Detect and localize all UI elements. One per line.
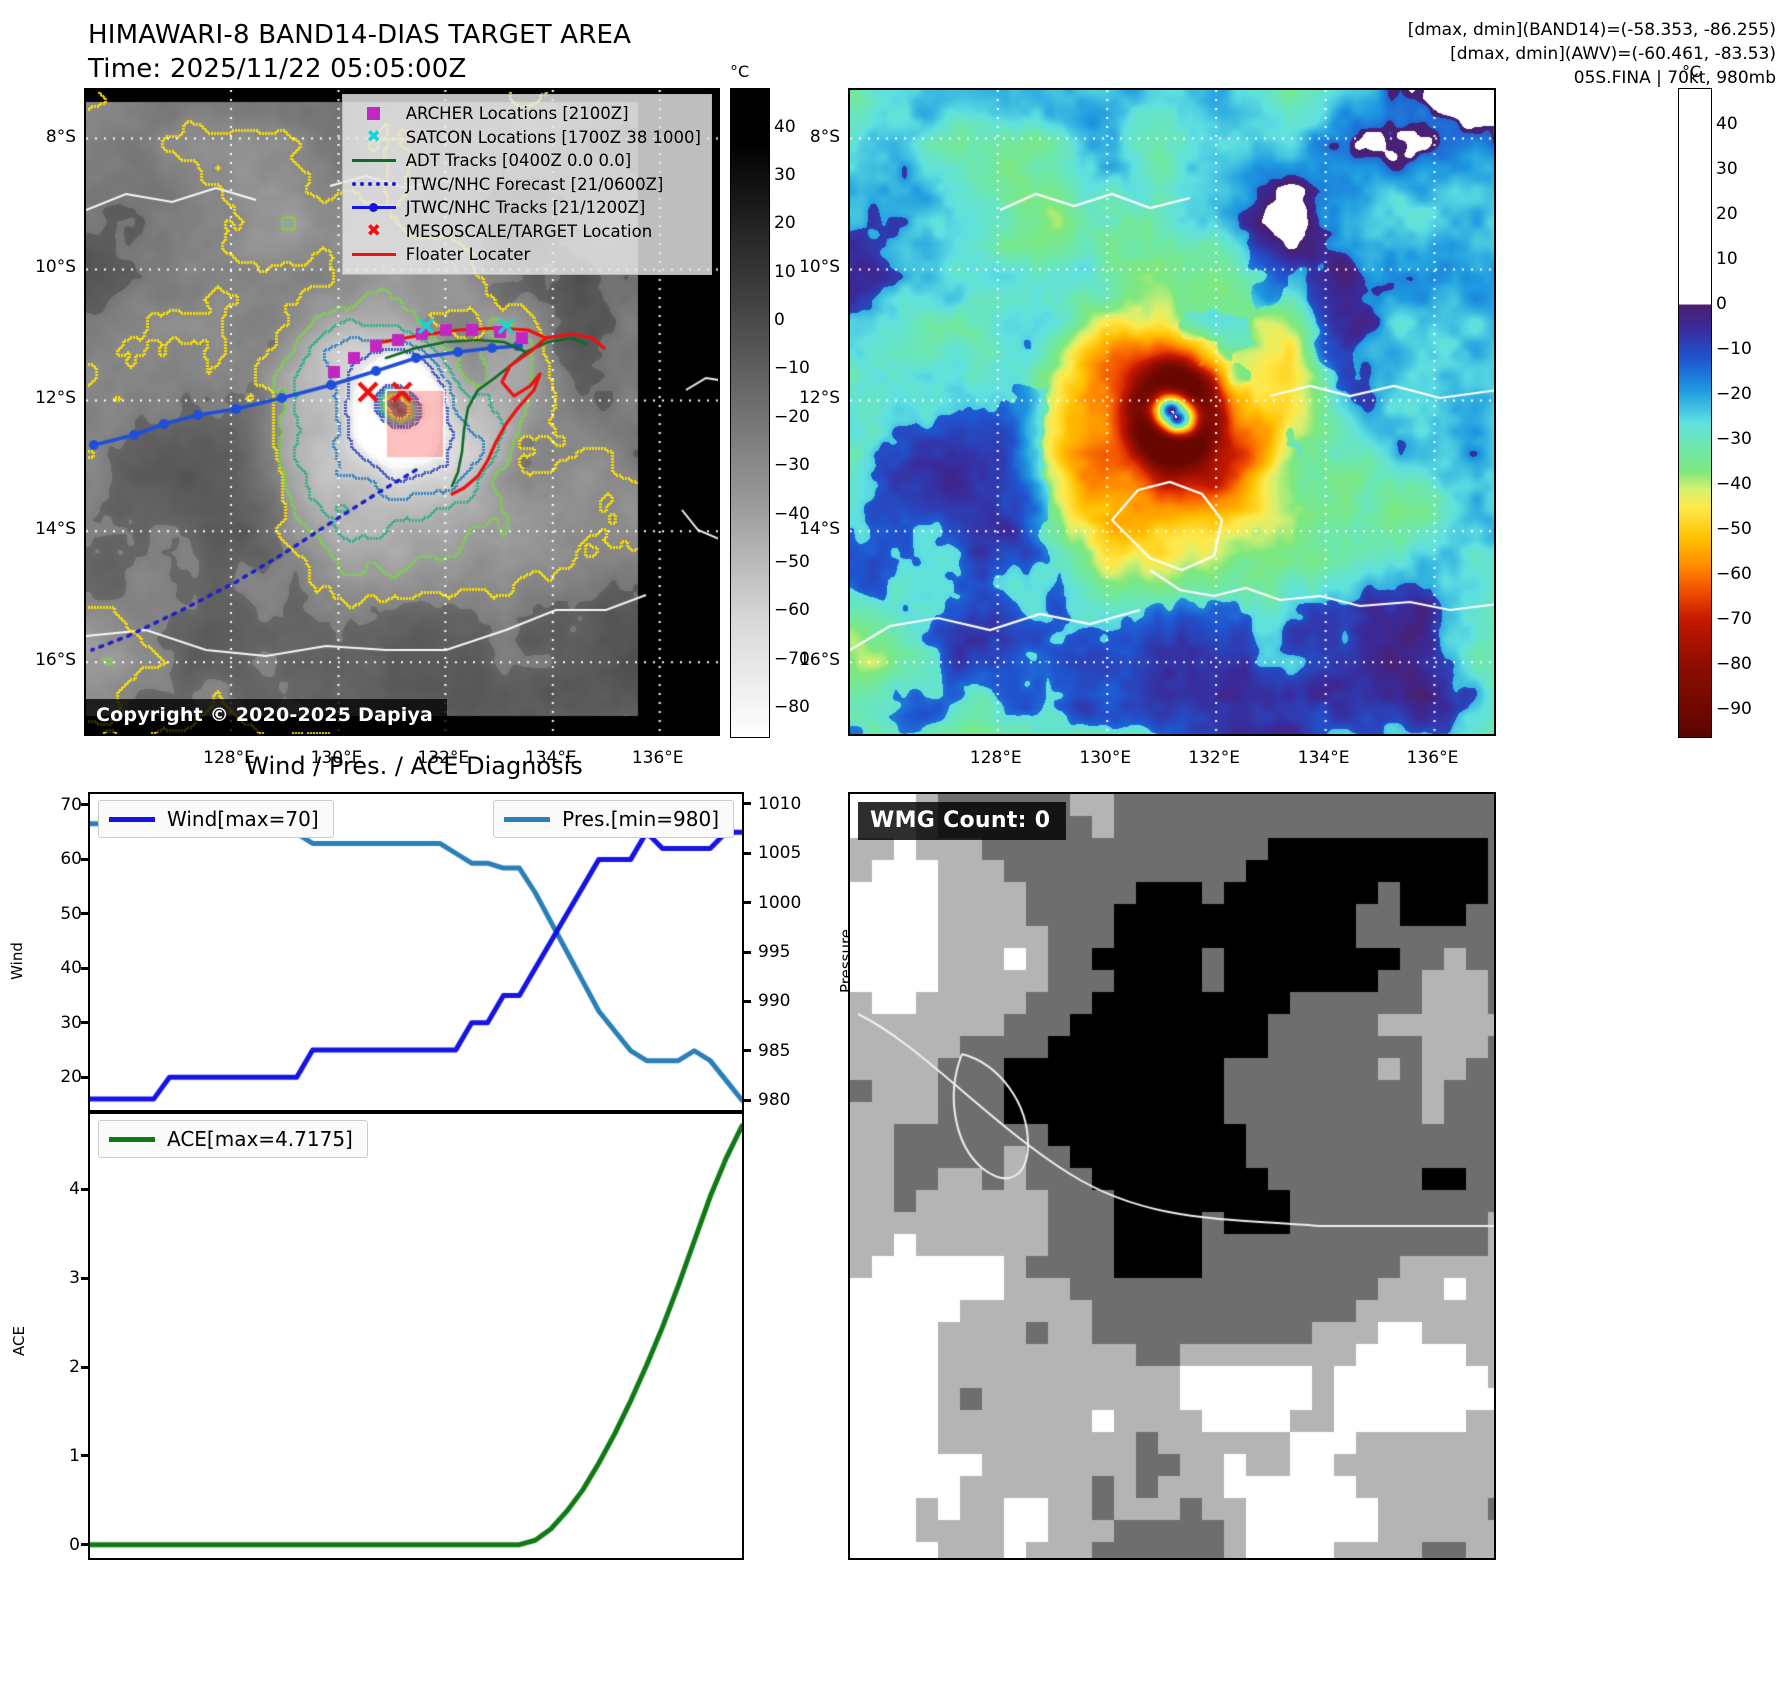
- colorbar-tick-label: 10: [1716, 249, 1738, 269]
- colorbar-tick-label: 30: [774, 165, 796, 185]
- legend-label: JTWC/NHC Forecast [21/0600Z]: [406, 173, 664, 197]
- ace-legend-label: ACE[max=4.7175]: [167, 1127, 353, 1151]
- enhanced-colorbar: [1678, 88, 1712, 738]
- wind-tick-mark: [81, 1076, 89, 1079]
- pressure-tick-mark: [743, 802, 751, 805]
- wmg-image: [850, 794, 1494, 1558]
- colorbar-tick-label: 20: [774, 213, 796, 233]
- ace-tick-label: 3: [44, 1268, 80, 1288]
- ir-satellite-panel[interactable]: ARCHER Locations [2100Z] ✖ SATCON Locati…: [84, 88, 720, 736]
- ace-tick-mark: [81, 1454, 89, 1457]
- colorbar-tick-label: 40: [1716, 114, 1738, 134]
- colorbar-tick-label: −80: [774, 697, 810, 717]
- copyright-notice: Copyright © 2020-2025 Dapiya: [86, 699, 447, 732]
- pressure-tick-mark: [743, 852, 751, 855]
- wind-tick-mark: [81, 858, 89, 861]
- ir-lat-label: 10°S: [8, 257, 76, 277]
- legend-item-archer[interactable]: ARCHER Locations [2100Z]: [351, 102, 701, 126]
- storm-id-text: 05S.FINA | 70kt, 980mb: [1076, 66, 1776, 90]
- enhanced-lon-label: 128°E: [970, 748, 1022, 768]
- pressure-tick-mark: [743, 1099, 751, 1102]
- wind-tick-label: 20: [42, 1067, 82, 1087]
- colorbar-tick-label: −70: [1716, 609, 1752, 629]
- enhanced-lon-label: 136°E: [1407, 748, 1459, 768]
- pressure-tick-mark: [743, 1049, 751, 1052]
- wind-tick-mark: [81, 803, 89, 806]
- enhanced-ir-image: [850, 90, 1496, 736]
- enhanced-ir-panel[interactable]: [848, 88, 1496, 736]
- colorbar-tick-label: −10: [1716, 339, 1752, 359]
- ir-lat-label: 12°S: [8, 388, 76, 408]
- wmg-count-badge: WMG Count: 0: [858, 802, 1066, 840]
- pressure-tick-label: 980: [758, 1090, 790, 1110]
- wind-tick-label: 40: [42, 958, 82, 978]
- ace-axis-label: ACE: [10, 1326, 28, 1356]
- wind-tick-mark: [81, 967, 89, 970]
- line-with-dot-icon: [351, 199, 397, 217]
- ir-lat-label: 14°S: [8, 519, 76, 539]
- legend-item-satcon[interactable]: ✖ SATCON Locations [1700Z 38 1000]: [351, 126, 701, 150]
- wind-tick-label: 60: [42, 849, 82, 869]
- ace-plot[interactable]: ACE[max=4.7175]: [88, 1112, 744, 1560]
- legend-item-jtwc-forecast[interactable]: JTWC/NHC Forecast [21/0600Z]: [351, 173, 701, 197]
- legend-item-jtwc-tracks[interactable]: JTWC/NHC Tracks [21/1200Z]: [351, 196, 701, 220]
- colorbar-tick-label: −60: [1716, 564, 1752, 584]
- colorbar-tick-label: −10: [774, 358, 810, 378]
- colorbar-tick-label: −30: [774, 455, 810, 475]
- wind-tick-mark: [81, 912, 89, 915]
- x-marker-icon: ✖: [351, 128, 397, 146]
- wind-pressure-canvas: [90, 794, 742, 1110]
- colorbar-tick-label: −30: [1716, 429, 1752, 449]
- colorbar-tick-label: −80: [1716, 654, 1752, 674]
- enhanced-lat-label: 14°S: [772, 519, 840, 539]
- colorbar-tick-label: −50: [1716, 519, 1752, 539]
- colorbar-tick-label: −20: [774, 407, 810, 427]
- wind-axis-label: Wind: [8, 942, 26, 980]
- enhanced-lat-label: 12°S: [772, 388, 840, 408]
- pressure-legend[interactable]: Pres.[min=980]: [493, 800, 734, 838]
- colorbar-tick-label: −20: [1716, 384, 1752, 404]
- pressure-tick-label: 1000: [758, 893, 801, 913]
- ace-canvas: [90, 1114, 742, 1558]
- ir-lat-label: 8°S: [8, 127, 76, 147]
- enhanced-lat-label: 10°S: [772, 257, 840, 277]
- wind-line-icon: [109, 817, 155, 822]
- ir-colorbar: [730, 88, 770, 738]
- pressure-tick-label: 990: [758, 991, 790, 1011]
- ace-tick-mark: [81, 1543, 89, 1546]
- legend-item-floater-locater[interactable]: Floater Locater: [351, 243, 701, 267]
- wind-legend-label: Wind[max=70]: [167, 807, 319, 831]
- legend-label: Floater Locater: [406, 243, 531, 267]
- legend-label: SATCON Locations [1700Z 38 1000]: [406, 126, 701, 150]
- wind-tick-label: 30: [42, 1013, 82, 1033]
- ace-line-icon: [109, 1137, 155, 1142]
- legend-item-adt-tracks[interactable]: ADT Tracks [0400Z 0.0 0.0]: [351, 149, 701, 173]
- header-stats: [dmax, dmin](BAND14)=(-58.353, -86.255) …: [1076, 18, 1776, 90]
- legend-item-mesoscale-target[interactable]: ✖ MESOSCALE/TARGET Location: [351, 220, 701, 244]
- solid-line-icon: [351, 246, 397, 264]
- enhanced-lon-label: 132°E: [1188, 748, 1240, 768]
- pressure-tick-label: 1005: [758, 843, 801, 863]
- colorbar-tick-label: 30: [1716, 159, 1738, 179]
- x-marker-icon: ✖: [351, 222, 397, 240]
- pressure-tick-mark: [743, 951, 751, 954]
- wind-tick-label: 70: [42, 795, 82, 815]
- legend-label: ADT Tracks [0400Z 0.0 0.0]: [406, 149, 631, 173]
- diagnosis-title: Wind / Pres. / ACE Diagnosis: [84, 752, 744, 780]
- colorbar-tick-label: −90: [1716, 699, 1752, 719]
- wind-tick-label: 50: [42, 904, 82, 924]
- enhanced-lat-label: 8°S: [772, 127, 840, 147]
- legend-label: MESOSCALE/TARGET Location: [406, 220, 652, 244]
- solid-line-icon: [351, 152, 397, 170]
- ace-tick-mark: [81, 1366, 89, 1369]
- legend-label: ARCHER Locations [2100Z]: [406, 102, 629, 126]
- enhanced-lon-label: 130°E: [1079, 748, 1131, 768]
- colorbar-tick-label: −50: [774, 552, 810, 572]
- ace-tick-label: 1: [44, 1446, 80, 1466]
- pressure-tick-label: 985: [758, 1041, 790, 1061]
- ace-tick-label: 0: [44, 1535, 80, 1555]
- title-main: HIMAWARI-8 BAND14-DIAS TARGET AREA: [88, 18, 848, 52]
- colorbar-tick-label: 0: [774, 310, 785, 330]
- ir-legend: ARCHER Locations [2100Z] ✖ SATCON Locati…: [342, 94, 712, 275]
- ace-tick-label: 4: [44, 1179, 80, 1199]
- dmax-awv-text: [dmax, dmin](AWV)=(-60.461, -83.53): [1076, 42, 1776, 66]
- colorbar-tick-label: −60: [774, 600, 810, 620]
- enhanced-colorbar-ticks: 403020100−10−20−30−40−50−60−70−80−90: [1716, 88, 1786, 736]
- wmg-panel[interactable]: WMG Count: 0: [848, 792, 1496, 1560]
- dotted-line-icon: [351, 175, 397, 193]
- ace-tick-mark: [81, 1277, 89, 1280]
- wind-tick-mark: [81, 1021, 89, 1024]
- ir-colorbar-unit: °C: [730, 62, 790, 81]
- ir-lat-label: 16°S: [8, 650, 76, 670]
- enhanced-colorbar-unit: °C: [1682, 62, 1701, 81]
- colorbar-tick-label: 20: [1716, 204, 1738, 224]
- ace-tick-label: 2: [44, 1357, 80, 1377]
- pressure-tick-mark: [743, 1000, 751, 1003]
- colorbar-tick-label: 0: [1716, 294, 1727, 314]
- wind-pressure-plot[interactable]: Wind[max=70] Pres.[min=980]: [88, 792, 744, 1112]
- pressure-line-icon: [504, 817, 550, 822]
- ace-tick-mark: [81, 1188, 89, 1191]
- wind-legend[interactable]: Wind[max=70]: [98, 800, 334, 838]
- pressure-tick-mark: [743, 901, 751, 904]
- ir-colorbar-ticks: 403020100−10−20−30−40−50−60−70−80: [774, 88, 844, 736]
- enhanced-lat-label: 16°S: [772, 650, 840, 670]
- legend-label: JTWC/NHC Tracks [21/1200Z]: [406, 196, 646, 220]
- dmax-band14-text: [dmax, dmin](BAND14)=(-58.353, -86.255): [1076, 18, 1776, 42]
- pressure-legend-label: Pres.[min=980]: [562, 807, 719, 831]
- square-marker-icon: [351, 105, 397, 123]
- enhanced-lon-label: 134°E: [1298, 748, 1350, 768]
- colorbar-tick-label: −40: [1716, 474, 1752, 494]
- pressure-tick-label: 1010: [758, 794, 801, 814]
- pressure-tick-label: 995: [758, 942, 790, 962]
- ace-legend[interactable]: ACE[max=4.7175]: [98, 1120, 368, 1158]
